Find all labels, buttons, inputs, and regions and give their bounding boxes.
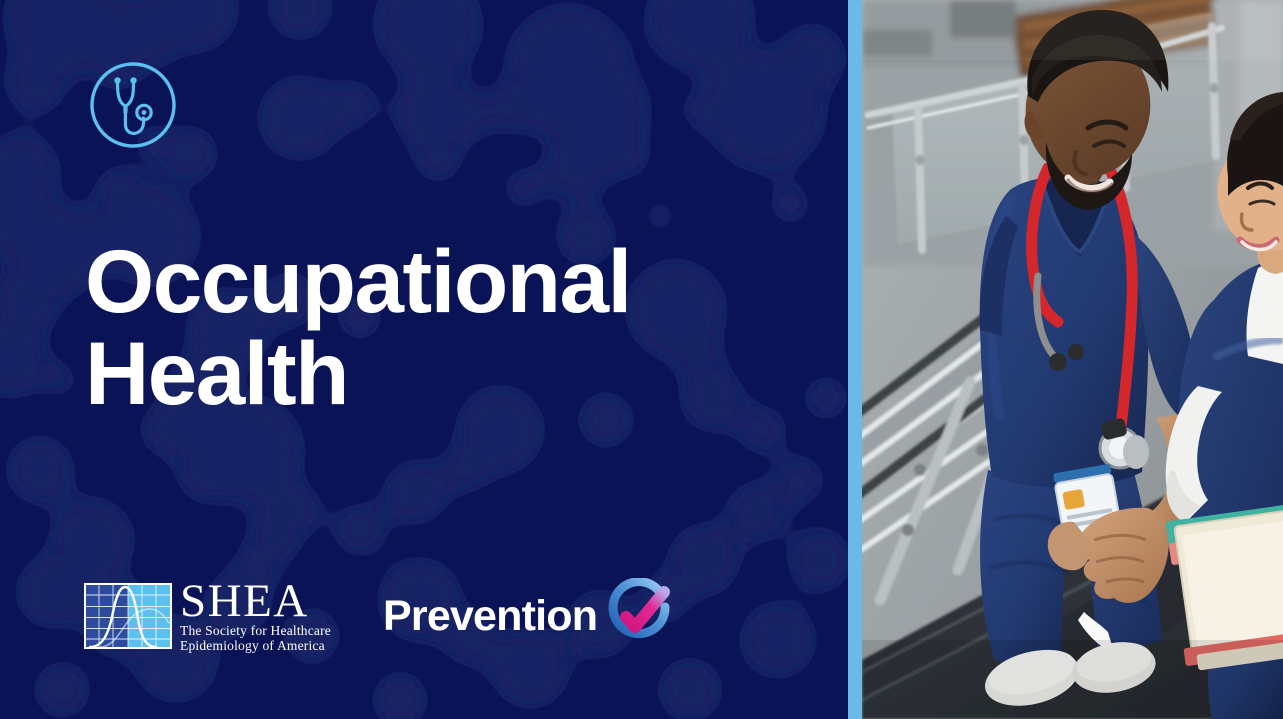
- page-title: Occupational Health: [85, 235, 725, 419]
- shea-chart-mark-icon: [84, 583, 172, 649]
- prevention-logo: Prevention: [383, 581, 677, 651]
- shea-logo: SHEA The Society for Healthcare Epidemio…: [84, 581, 331, 651]
- healthcare-workers-on-stairs-photo: [862, 0, 1283, 719]
- stethoscope-icon: [88, 60, 178, 150]
- shea-wordmark: SHEA The Society for Healthcare Epidemio…: [180, 579, 331, 653]
- prevention-check-circle-icon: [601, 578, 677, 654]
- logo-row: SHEA The Society for Healthcare Epidemio…: [84, 578, 677, 654]
- shea-name: SHEA: [180, 579, 331, 623]
- shea-tagline: The Society for Healthcare Epidemiology …: [180, 624, 331, 653]
- slide-root: Occupational Health: [0, 0, 1283, 719]
- vertical-accent-divider: [848, 0, 862, 719]
- prevention-wordmark: Prevention: [383, 594, 597, 638]
- left-content-panel: Occupational Health: [0, 0, 848, 719]
